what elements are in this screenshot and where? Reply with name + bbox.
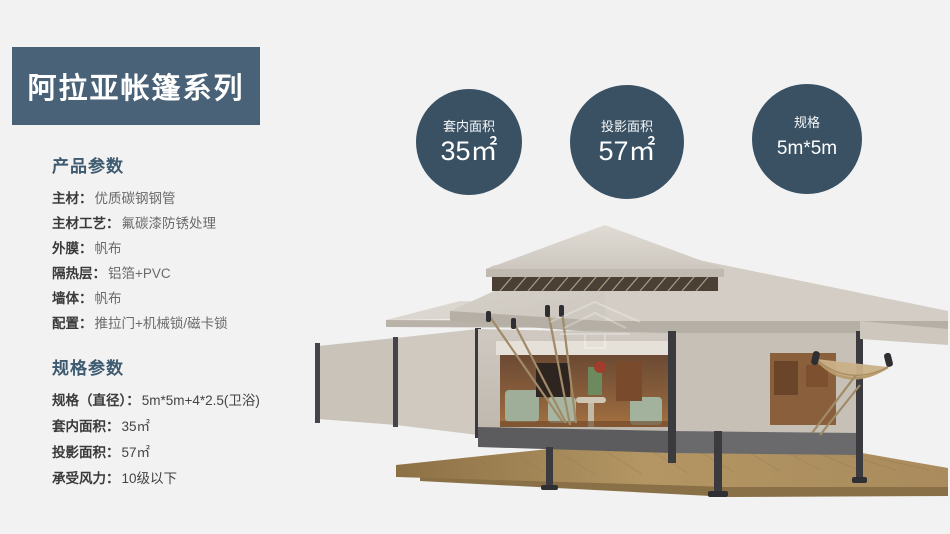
side-screen-panels [315,328,481,438]
upper-roof [486,225,724,291]
param-label: 投影面积： [52,445,120,460]
param-row: 主材：优质碳钢钢管 [52,186,352,211]
param-label: 承受风力： [52,471,120,486]
tent-illustration [300,225,950,515]
badge-value: 35㎡ [440,136,497,166]
param-value: 铝箔+PVC [108,266,171,281]
stat-badge-dimensions: 规格 5m*5m [752,84,862,194]
param-label: 套内面积： [52,419,120,434]
stat-badge-projected-area: 投影面积 57㎡ [570,85,684,199]
badge-label: 套内面积 [443,119,495,135]
stat-badge-interior-area: 套内面积 35㎡ [416,89,522,195]
poster-canvas: 阿拉亚帐篷系列 产品参数 主材：优质碳钢钢管 主材工艺：氟碳漆防锈处理 外膜：帆… [0,0,950,534]
param-value: 帆布 [95,241,122,256]
param-value: 推拉门+机械锁/磁卡锁 [95,316,228,331]
param-value: 57㎡ [122,445,151,460]
param-value: 35㎡ [122,419,151,434]
param-value: 氟碳漆防锈处理 [122,216,217,231]
watermark [530,296,660,352]
param-value: 5m*5m+4*2.5(卫浴) [142,393,260,408]
param-value: 帆布 [95,291,122,306]
param-label: 隔热层： [52,266,106,281]
title-banner: 阿拉亚帐篷系列 [12,47,260,125]
badge-value: 5m*5m [777,134,837,164]
product-section-heading: 产品参数 [52,152,352,177]
badge-label: 投影面积 [601,119,653,135]
badge-label: 规格 [794,115,820,131]
param-label: 配置： [52,316,93,331]
param-label: 规格（直径）： [52,393,140,408]
param-label: 主材： [52,191,93,206]
badge-value: 57㎡ [598,136,655,166]
param-label: 墙体： [52,291,93,306]
param-label: 外膜： [52,241,93,256]
param-value: 10级以下 [122,471,178,486]
param-label: 主材工艺： [52,216,120,231]
page-title: 阿拉亚帐篷系列 [27,65,244,107]
param-value: 优质碳钢钢管 [95,191,176,206]
